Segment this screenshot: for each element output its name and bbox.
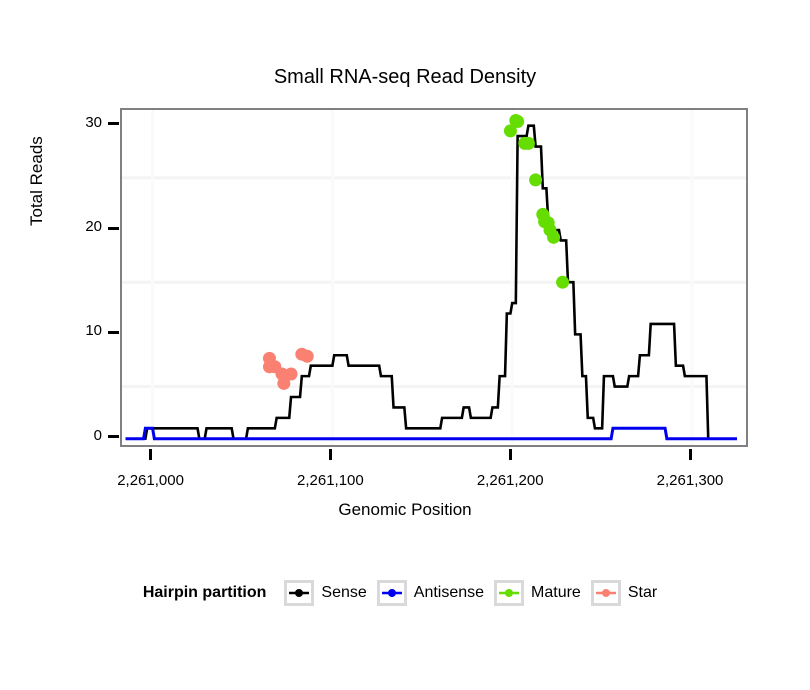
legend-key-antisense-icon [377,580,407,606]
x-tick-label: 2,261,300 [630,472,750,489]
y-tick-label: 20 [72,218,102,235]
x-tick-label: 2,261,000 [91,472,211,489]
data-point-mature [547,231,560,244]
data-point-mature [522,137,535,150]
legend-items: SenseAntisenseMatureStar [284,580,667,606]
y-tick-mark [108,122,119,125]
data-point-star [301,350,314,363]
legend-item-star[interactable]: Star [591,580,657,606]
x-tick-mark [509,449,512,460]
y-tick-label: 30 [72,114,102,131]
data-point-mature [556,276,569,289]
y-tick-label: 0 [72,427,102,444]
legend-label: Mature [531,584,581,602]
legend-item-antisense[interactable]: Antisense [377,580,484,606]
x-tick-mark [149,449,152,460]
legend-label: Sense [321,584,366,602]
y-tick-mark [108,331,119,334]
data-point-mature [511,115,524,128]
legend-label: Antisense [414,584,484,602]
y-tick-mark [108,227,119,230]
legend-label: Star [628,584,657,602]
data-point-star [285,368,298,381]
plot-panel [120,108,748,447]
plot-area [122,110,746,445]
data-point-mature [529,173,542,186]
chart-title: Small RNA-seq Read Density [0,66,810,89]
x-tick-label: 2,261,200 [450,472,570,489]
legend-key-mature-icon [494,580,524,606]
y-tick-mark [108,435,119,438]
legend-key-star-icon [591,580,621,606]
legend-key-sense-icon [284,580,314,606]
legend-title: Hairpin partition [143,584,267,602]
x-tick-mark [329,449,332,460]
x-tick-mark [689,449,692,460]
legend-item-sense[interactable]: Sense [284,580,366,606]
x-tick-label: 2,261,100 [270,472,390,489]
y-axis-title: Total Reads [27,204,47,226]
legend: Hairpin partition SenseAntisenseMatureSt… [0,580,810,606]
x-axis-title: Genomic Position [0,500,810,520]
figure-canvas: Small RNA-seq Read Density Total Reads G… [0,0,810,690]
legend-item-mature[interactable]: Mature [494,580,581,606]
y-tick-label: 10 [72,322,102,339]
series-line-antisense [126,428,737,438]
